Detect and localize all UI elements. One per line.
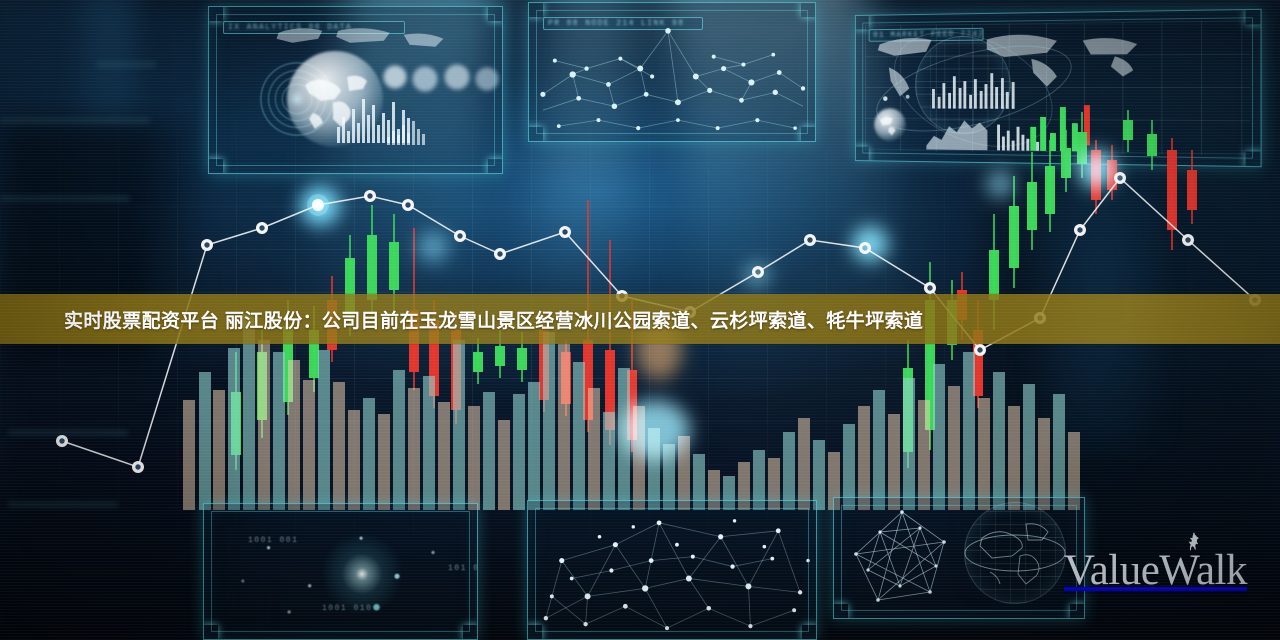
bull-icon xyxy=(1186,532,1202,552)
hud-panel-bottom-right xyxy=(833,497,1085,619)
binary-label: 1001 010 xyxy=(322,604,372,613)
particle-burst xyxy=(290,528,440,624)
logo-wordmark: ValueWalk xyxy=(1064,549,1247,592)
wireframe-globe-icon xyxy=(964,502,1066,604)
corner-bracket-icon xyxy=(463,625,478,640)
wireframe-polyhedron-icon xyxy=(850,508,954,608)
node-constellation-graph xyxy=(528,501,816,640)
globe-continents-wire xyxy=(964,502,1066,604)
corner-bracket-icon xyxy=(833,604,848,619)
headline-text: 实时股票配资平台 丽江股份：公司目前在玉龙雪山景区经营冰川公园索道、云杉坪索道、… xyxy=(64,306,923,333)
hud-panel-bottom-left: 1001 001 101 010 1001 010 xyxy=(203,503,478,640)
particle-field xyxy=(212,512,469,631)
valuewalk-logo[interactable]: ValueWalk xyxy=(1064,549,1247,592)
headline-banner: 实时股票配资平台 丽江股份：公司目前在玉龙雪山景区经营冰川公园索道、云杉坪索道、… xyxy=(0,294,1280,344)
binary-label: 1001 001 xyxy=(248,536,298,545)
hud-panel-bottom-center xyxy=(527,500,817,640)
hero-image: IX ANALYTICS 08 DATA xyxy=(0,0,1280,640)
binary-label: 101 010 xyxy=(448,564,478,573)
corner-bracket-icon xyxy=(1070,604,1085,619)
corner-bracket-icon xyxy=(203,625,218,640)
